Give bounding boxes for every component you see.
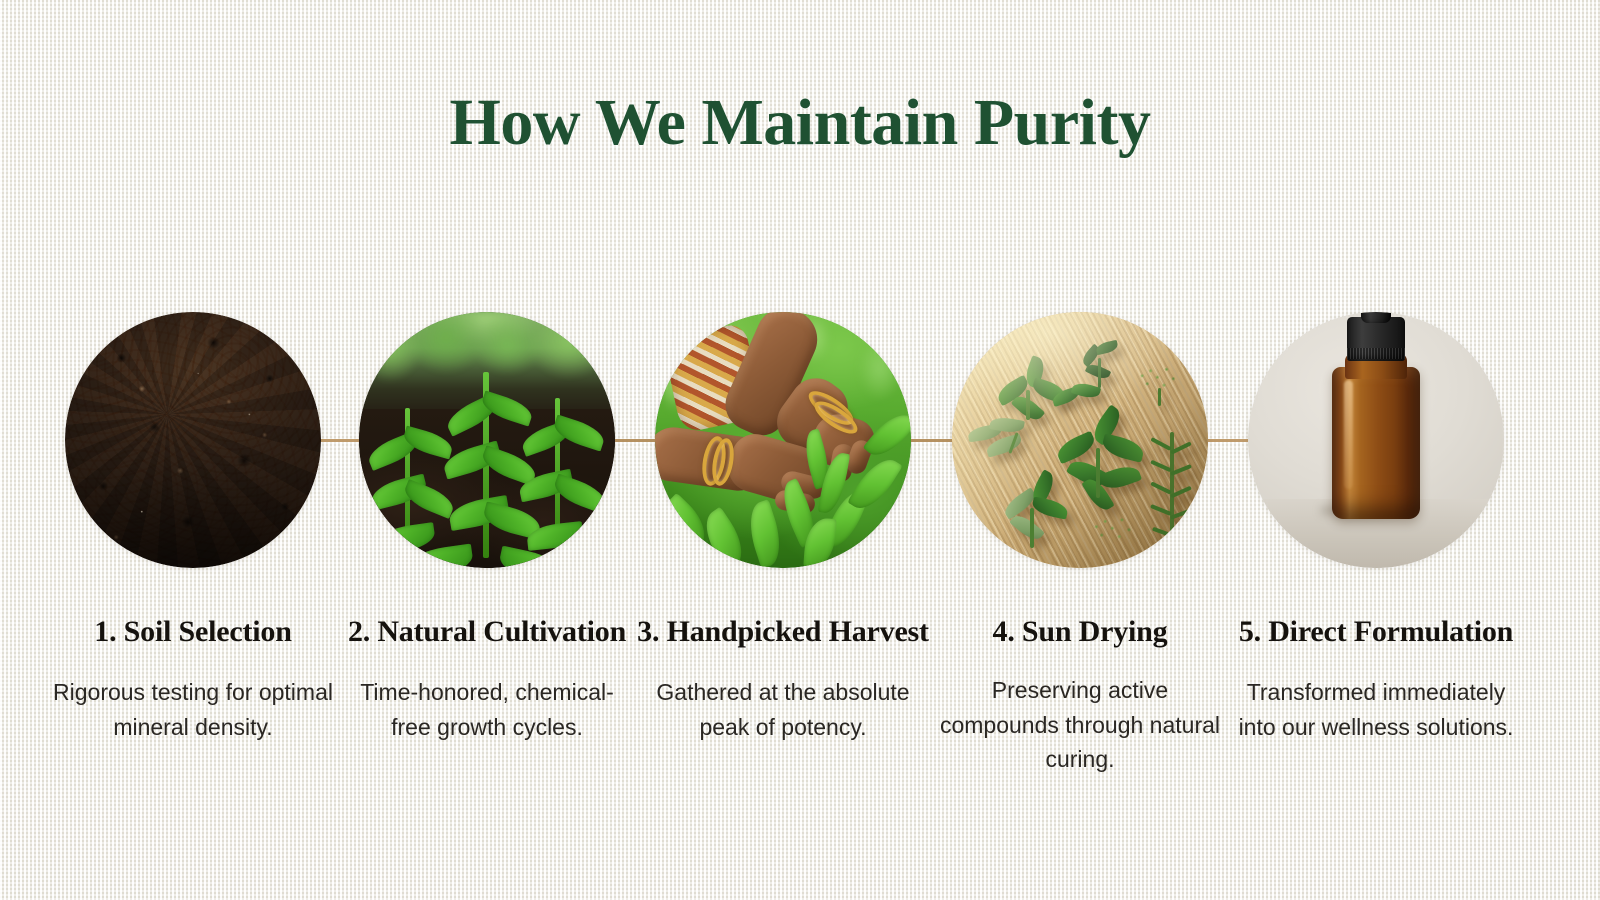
- sunlight-overlay: [952, 312, 1208, 568]
- step-2-image-circle: [359, 312, 615, 568]
- herbs-drying-on-mat-photo: [952, 312, 1208, 568]
- step-1-image-circle: [65, 312, 321, 568]
- dark-soil-photo: [65, 312, 321, 568]
- step-5-heading: 5. Direct Formulation: [1228, 612, 1524, 651]
- step-3-body: Gathered at the absolute peak of potency…: [635, 675, 931, 744]
- infographic-stage: How We Maintain Purity 1. Soil Selection…: [0, 0, 1600, 900]
- amber-glass-bottle-body: [1332, 367, 1420, 519]
- step-2-heading: 2. Natural Cultivation: [339, 612, 635, 651]
- amber-dropper-bottle-photo: [1248, 312, 1504, 568]
- step-4-image-circle: [952, 312, 1208, 568]
- step-1-body: Rigorous testing for optimal mineral den…: [45, 675, 341, 744]
- step-1-heading: 1. Soil Selection: [45, 612, 341, 651]
- step-2-body: Time-honored, chemical-free growth cycle…: [339, 675, 635, 744]
- step-5-image-circle: [1248, 312, 1504, 568]
- dropper-rubber-bulb: [1361, 312, 1391, 323]
- green-seedlings-photo: [359, 312, 615, 568]
- black-dropper-cap: [1347, 317, 1405, 361]
- process-step-1: 1. Soil Selection Rigorous testing for o…: [45, 312, 341, 744]
- hands-harvesting-tea-photo: [655, 312, 911, 568]
- step-4-heading: 4. Sun Drying: [932, 612, 1228, 651]
- process-step-2: 2. Natural Cultivation Time-honored, che…: [339, 312, 635, 744]
- process-steps-row: 1. Soil Selection Rigorous testing for o…: [0, 0, 1600, 900]
- process-step-3: 3. Handpicked Harvest Gathered at the ab…: [635, 312, 931, 744]
- step-5-body: Transformed immediately into our wellnes…: [1228, 675, 1524, 744]
- step-3-image-circle: [655, 312, 911, 568]
- process-step-5: 5. Direct Formulation Transformed immedi…: [1228, 312, 1524, 744]
- step-4-body: Preserving active compounds through natu…: [932, 673, 1228, 777]
- step-3-heading: 3. Handpicked Harvest: [635, 612, 931, 651]
- process-step-4: 4. Sun Drying Preserving active compound…: [932, 312, 1228, 777]
